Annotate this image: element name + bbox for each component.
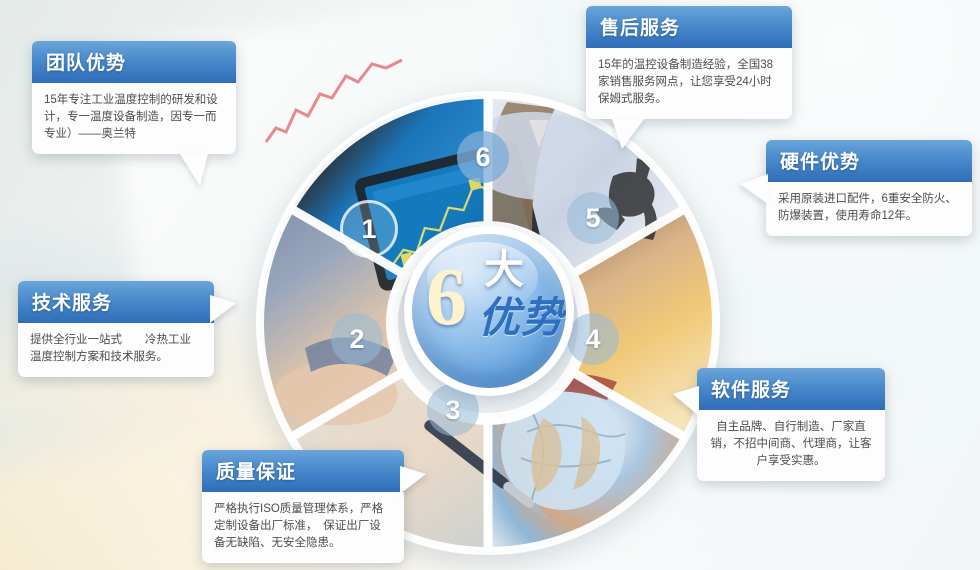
center-badge: 6 大 优势 bbox=[404, 226, 574, 396]
callout-after-sales-tail bbox=[612, 119, 644, 149]
infographic-canvas: 1 2 3 4 5 6 6 大 优势 团队优势 15年专注工业温度控制的研发和设… bbox=[0, 0, 980, 570]
callout-quality-tail bbox=[400, 466, 426, 494]
callout-team-body: 15年专注工业温度控制的研发和设计，专一温度设备制造，因专一而专业）——奥兰特 bbox=[32, 83, 236, 154]
callout-quality-body: 严格执行ISO质量管理体系，严格定制设备出厂标准， 保证出厂设备无缺陷、无安全隐… bbox=[202, 492, 404, 563]
callout-hardware-title: 硬件优势 bbox=[766, 140, 972, 182]
callout-quality[interactable]: 质量保证 严格执行ISO质量管理体系，严格定制设备出厂标准， 保证出厂设备无缺陷… bbox=[202, 450, 404, 563]
segment-number-6[interactable]: 6 bbox=[457, 131, 509, 183]
callout-technical-body: 提供全行业一站式 冷热工业温度控制方案和技术服务。 bbox=[18, 323, 214, 377]
segment-number-4[interactable]: 4 bbox=[567, 313, 619, 365]
callout-after-sales-title: 售后服务 bbox=[586, 6, 792, 48]
center-word: 优势 bbox=[478, 296, 564, 340]
segment-number-5[interactable]: 5 bbox=[567, 192, 619, 244]
callout-hardware-body: 采用原装进口配件，6重安全防火、防爆装置，使用寿命12年。 bbox=[766, 182, 972, 236]
callout-software-title: 软件服务 bbox=[697, 368, 885, 410]
callout-technical[interactable]: 技术服务 提供全行业一站式 冷热工业温度控制方案和技术服务。 bbox=[18, 281, 214, 377]
callout-hardware[interactable]: 硬件优势 采用原装进口配件，6重安全防火、防爆装置，使用寿命12年。 bbox=[766, 140, 972, 236]
callout-software[interactable]: 软件服务 自主品牌、自行制造、厂家直销，不招中间商、代理商，让客户享受实惠。 bbox=[697, 368, 885, 481]
center-unit: 大 bbox=[484, 250, 524, 290]
callout-team[interactable]: 团队优势 15年专注工业温度控制的研发和设计，专一温度设备制造，因专一而专业）—… bbox=[32, 41, 236, 154]
callout-quality-title: 质量保证 bbox=[202, 450, 404, 492]
callout-team-tail bbox=[180, 154, 208, 186]
callout-software-body: 自主品牌、自行制造、厂家直销，不招中间商、代理商，让客户享受实惠。 bbox=[697, 410, 885, 481]
callout-technical-tail bbox=[210, 295, 236, 323]
center-text-group: 6 大 优势 bbox=[412, 234, 566, 388]
callout-after-sales-body: 15年的温控设备制造经验，全国38家销售服务网点，让您享受24小时保姆式服务。 bbox=[586, 48, 792, 119]
callout-team-title: 团队优势 bbox=[32, 41, 236, 83]
callout-software-tail bbox=[673, 386, 699, 416]
center-badge-inner: 6 大 优势 bbox=[412, 234, 566, 388]
callout-after-sales[interactable]: 售后服务 15年的温控设备制造经验，全国38家销售服务网点，让您享受24小时保姆… bbox=[586, 6, 792, 119]
callout-hardware-tail bbox=[740, 174, 768, 204]
callout-technical-title: 技术服务 bbox=[18, 281, 214, 323]
segment-number-1[interactable]: 1 bbox=[340, 200, 398, 258]
segment-number-2[interactable]: 2 bbox=[331, 313, 383, 365]
center-number: 6 bbox=[426, 256, 467, 338]
